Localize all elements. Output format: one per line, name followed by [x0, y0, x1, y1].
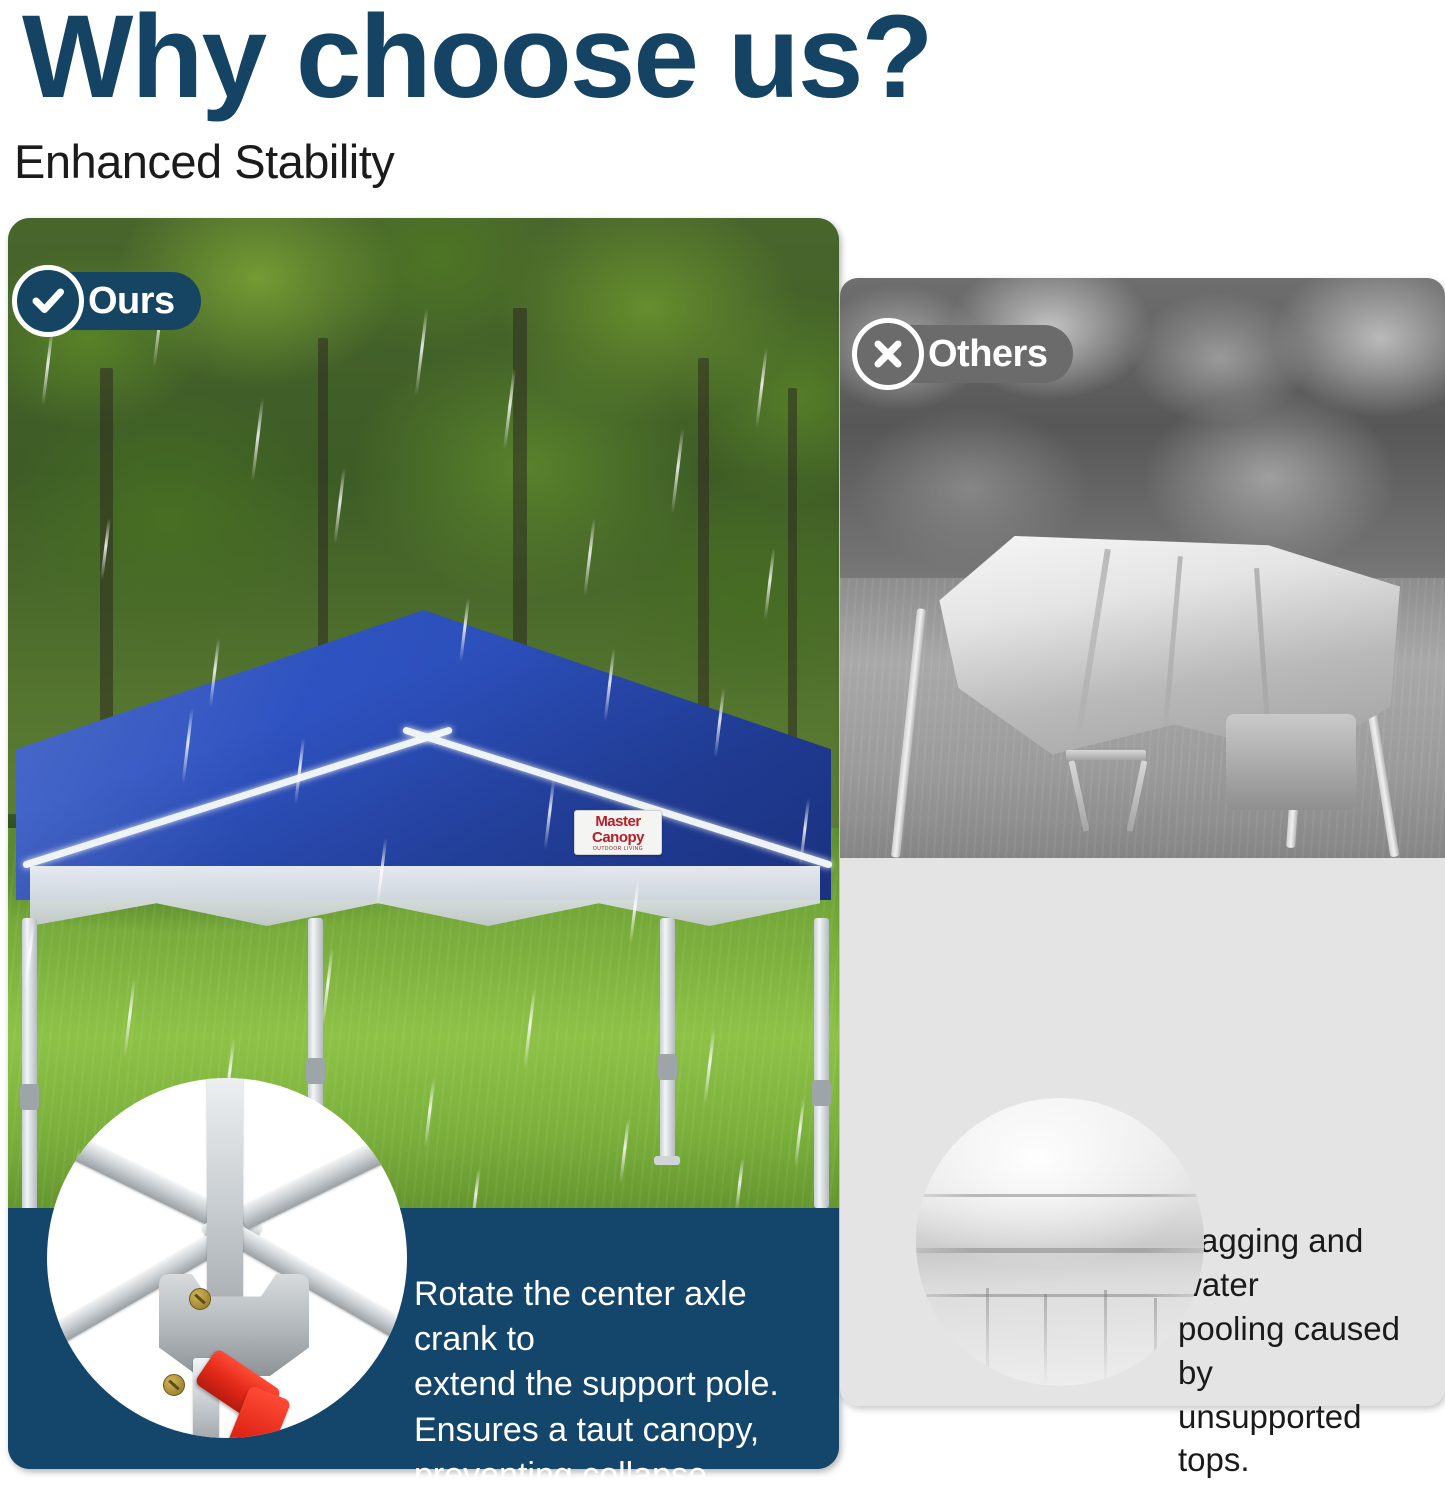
tent-leg-clip	[812, 1080, 831, 1106]
page-title: Why choose us?	[22, 0, 932, 126]
hub-screw	[163, 1374, 185, 1396]
tent-leg	[22, 918, 37, 1208]
x-icon	[852, 318, 924, 390]
fabric-pleat	[986, 1288, 989, 1386]
fabric-pleat	[1104, 1290, 1107, 1386]
page-subtitle: Enhanced Stability	[14, 134, 394, 189]
fabric-pleat	[1044, 1294, 1047, 1386]
sagging-fabric	[916, 1098, 1204, 1386]
fabric-seam	[916, 1194, 1204, 1197]
fabric-pleat	[1154, 1298, 1157, 1386]
folding-stool	[1066, 750, 1146, 760]
brand-logo-line1: Master	[595, 814, 640, 829]
others-badge-label: Others	[928, 335, 1047, 373]
folding-chair	[1226, 714, 1356, 810]
fabric-seam	[916, 1248, 1204, 1253]
hub-screw	[189, 1288, 211, 1310]
ours-badge: Ours	[28, 272, 201, 330]
tent-leg-clip	[306, 1058, 325, 1084]
tent-leg-clip	[658, 1054, 677, 1080]
tent-leg-clip	[20, 1084, 39, 1110]
fabric-seam	[916, 1294, 1204, 1297]
center-axle-crank-inset	[47, 1078, 407, 1438]
canopy-roof-sheen	[16, 610, 831, 900]
header: Why choose us? Enhanced Stability	[0, 0, 1445, 218]
ours-photo: Master Canopy OUTDOOR LIVING	[8, 218, 839, 1208]
others-badge: Others	[868, 325, 1073, 383]
canopy-valance	[30, 866, 820, 926]
others-caption-text: Sagging and water pooling caused by unsu…	[1178, 1219, 1430, 1482]
tent-leg-foot	[654, 1156, 680, 1165]
tent-leg	[660, 918, 675, 1158]
canopy-tent: Master Canopy OUTDOOR LIVING	[8, 218, 839, 1208]
brand-logo: Master Canopy OUTDOOR LIVING	[574, 810, 662, 855]
brand-logo-tagline: OUTDOOR LIVING	[593, 847, 643, 852]
tent-leg	[814, 918, 829, 1208]
check-icon	[12, 265, 84, 337]
ours-badge-label: Ours	[88, 282, 175, 320]
brand-logo-line2: Canopy	[592, 830, 644, 845]
sagging-fabric-inset	[916, 1098, 1204, 1386]
ours-caption-text: Rotate the center axle crank to extend t…	[414, 1272, 824, 1498]
